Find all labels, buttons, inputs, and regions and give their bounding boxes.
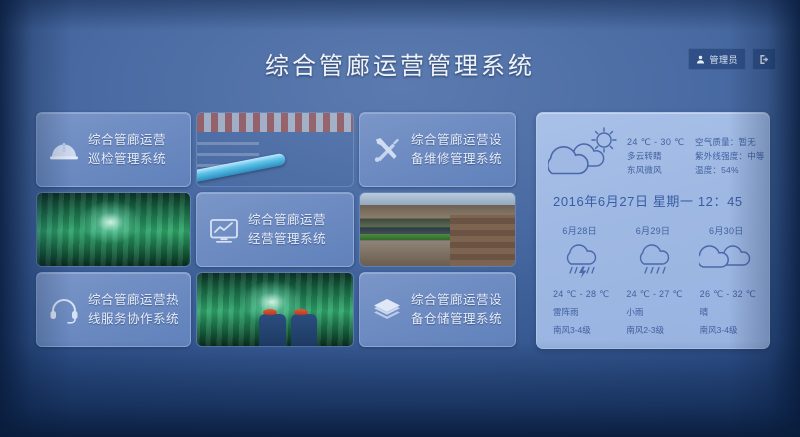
photo-detail — [197, 153, 259, 156]
module-tile-maintenance[interactable]: 综合管廊运营设备维修管理系统 — [359, 112, 516, 187]
module-tile-hotline[interactable]: 综合管廊运营热线服务协作系统 — [36, 272, 191, 347]
forecast-temperature: 24 ℃ - 27 ℃ — [626, 289, 683, 299]
header: 综合管廊运营管理系统 管理员 — [0, 0, 800, 104]
module-tile-label: 综合管廊运营热线服务协作系统 — [88, 291, 179, 329]
forecast-condition: 雷阵雨 — [553, 307, 579, 317]
cloudy-icon — [698, 240, 754, 280]
user-area: 管理员 — [688, 48, 776, 70]
weather-right-column: 空气质量：暂无 紫外线强度：中等 温度：54% — [695, 137, 765, 175]
forecast-day: 6月29日 24 ℃ - 27 ℃ 小雨 南风2-3级 — [616, 224, 689, 338]
forecast-day: 6月30日 26 ℃ - 32 ℃ 晴 南风3-4级 — [690, 224, 763, 338]
photo-detail — [196, 153, 286, 183]
monitor-chart-icon — [207, 213, 241, 247]
photo-detail — [197, 113, 353, 132]
photo-detail — [263, 309, 277, 316]
photo-image — [360, 193, 515, 266]
current-user-button[interactable]: 管理员 — [688, 48, 746, 70]
weather-humidity: 温度：54% — [695, 165, 765, 175]
photo-detail — [294, 309, 308, 316]
forecast-day: 6月28日 24 ℃ - 28 ℃ 雷阵雨 南风3-4级 — [543, 224, 616, 338]
forecast-date: 6月28日 — [562, 224, 597, 237]
module-grid: 综合管廊运营巡检管理系统 综合管廊运营设备 — [36, 112, 516, 347]
thunderstorm-icon — [552, 240, 608, 280]
cloudy-sun-icon — [547, 123, 627, 185]
page-title: 综合管廊运营管理系统 — [0, 46, 800, 81]
photo-image — [197, 273, 353, 346]
forecast-condition: 小雨 — [626, 307, 643, 317]
forecast-temperature: 24 ℃ - 28 ℃ — [553, 289, 610, 299]
module-tile-warehouse[interactable]: 综合管廊运营设备仓储管理系统 — [359, 272, 516, 347]
forecast-date: 6月30日 — [709, 224, 744, 237]
tunnel-corridor-photo — [36, 192, 191, 267]
photo-detail — [291, 314, 318, 346]
weather-forecast: 6月28日 24 ℃ - 28 ℃ 雷阵雨 南风3-4级 — [537, 210, 769, 338]
forecast-condition: 晴 — [700, 307, 709, 317]
weather-air-quality: 空气质量：暂无 — [695, 137, 765, 147]
current-user-label: 管理员 — [709, 53, 738, 66]
tunnel-road-photo — [359, 192, 516, 267]
forecast-wind: 南风3-4级 — [700, 325, 738, 335]
photo-image — [197, 113, 353, 186]
forecast-text: 26 ℃ - 32 ℃ 晴 南风3-4级 — [690, 284, 757, 338]
module-tile-operation[interactable]: 综合管廊运营经营管理系统 — [196, 192, 354, 267]
forecast-wind: 南风2-3级 — [626, 325, 664, 335]
photo-detail — [259, 314, 286, 346]
forecast-wind: 南风3-4级 — [553, 325, 591, 335]
weather-current: 24 ℃ - 30 ℃ 多云转睛 东风微风 空气质量：暂无 紫外线强度：中等 温… — [537, 113, 769, 189]
weather-details: 24 ℃ - 30 ℃ 多云转睛 东风微风 空气质量：暂无 紫外线强度：中等 温… — [627, 133, 765, 175]
dashboard-screen: 综合管廊运营管理系统 管理员 — [0, 0, 800, 437]
forecast-text: 24 ℃ - 27 ℃ 小雨 南风2-3级 — [616, 284, 683, 338]
weather-uv-index: 紫外线强度：中等 — [695, 151, 765, 161]
rain-icon — [625, 240, 681, 280]
headset-icon — [47, 293, 81, 327]
tunnel-workers-photo — [196, 272, 354, 347]
photo-detail — [360, 193, 515, 205]
module-tile-label: 综合管廊运营设备维修管理系统 — [411, 131, 502, 169]
weather-panel: 24 ℃ - 30 ℃ 多云转睛 东风微风 空气质量：暂无 紫外线强度：中等 温… — [536, 112, 770, 349]
logout-icon — [759, 54, 770, 65]
forecast-text: 24 ℃ - 28 ℃ 雷阵雨 南风3-4级 — [543, 284, 610, 338]
module-tile-inspection[interactable]: 综合管廊运营巡检管理系统 — [36, 112, 191, 187]
person-icon — [696, 55, 705, 64]
module-tile-label: 综合管廊运营巡检管理系统 — [88, 131, 166, 169]
forecast-temperature: 26 ℃ - 32 ℃ — [700, 289, 757, 299]
tunnel-pipes-photo — [196, 112, 354, 187]
photo-image — [37, 193, 190, 266]
forecast-date: 6月29日 — [636, 224, 671, 237]
photo-detail — [197, 142, 259, 145]
helmet-icon — [47, 133, 81, 167]
weather-wind: 东风微风 — [627, 165, 691, 175]
module-tile-label: 综合管廊运营设备仓储管理系统 — [411, 291, 502, 329]
wrench-screwdriver-icon — [370, 133, 404, 167]
weather-datetime: 2016年6月27日 星期一 12：45 — [537, 189, 769, 210]
weather-condition: 多云转睛 — [627, 151, 691, 161]
module-tile-label: 综合管廊运营经营管理系统 — [248, 211, 326, 249]
layers-icon — [370, 293, 404, 327]
weather-temperature: 24 ℃ - 30 ℃ — [627, 137, 691, 147]
photo-detail — [450, 215, 515, 266]
logout-button[interactable] — [752, 48, 776, 70]
weather-left-column: 24 ℃ - 30 ℃ 多云转睛 东风微风 — [627, 137, 691, 175]
